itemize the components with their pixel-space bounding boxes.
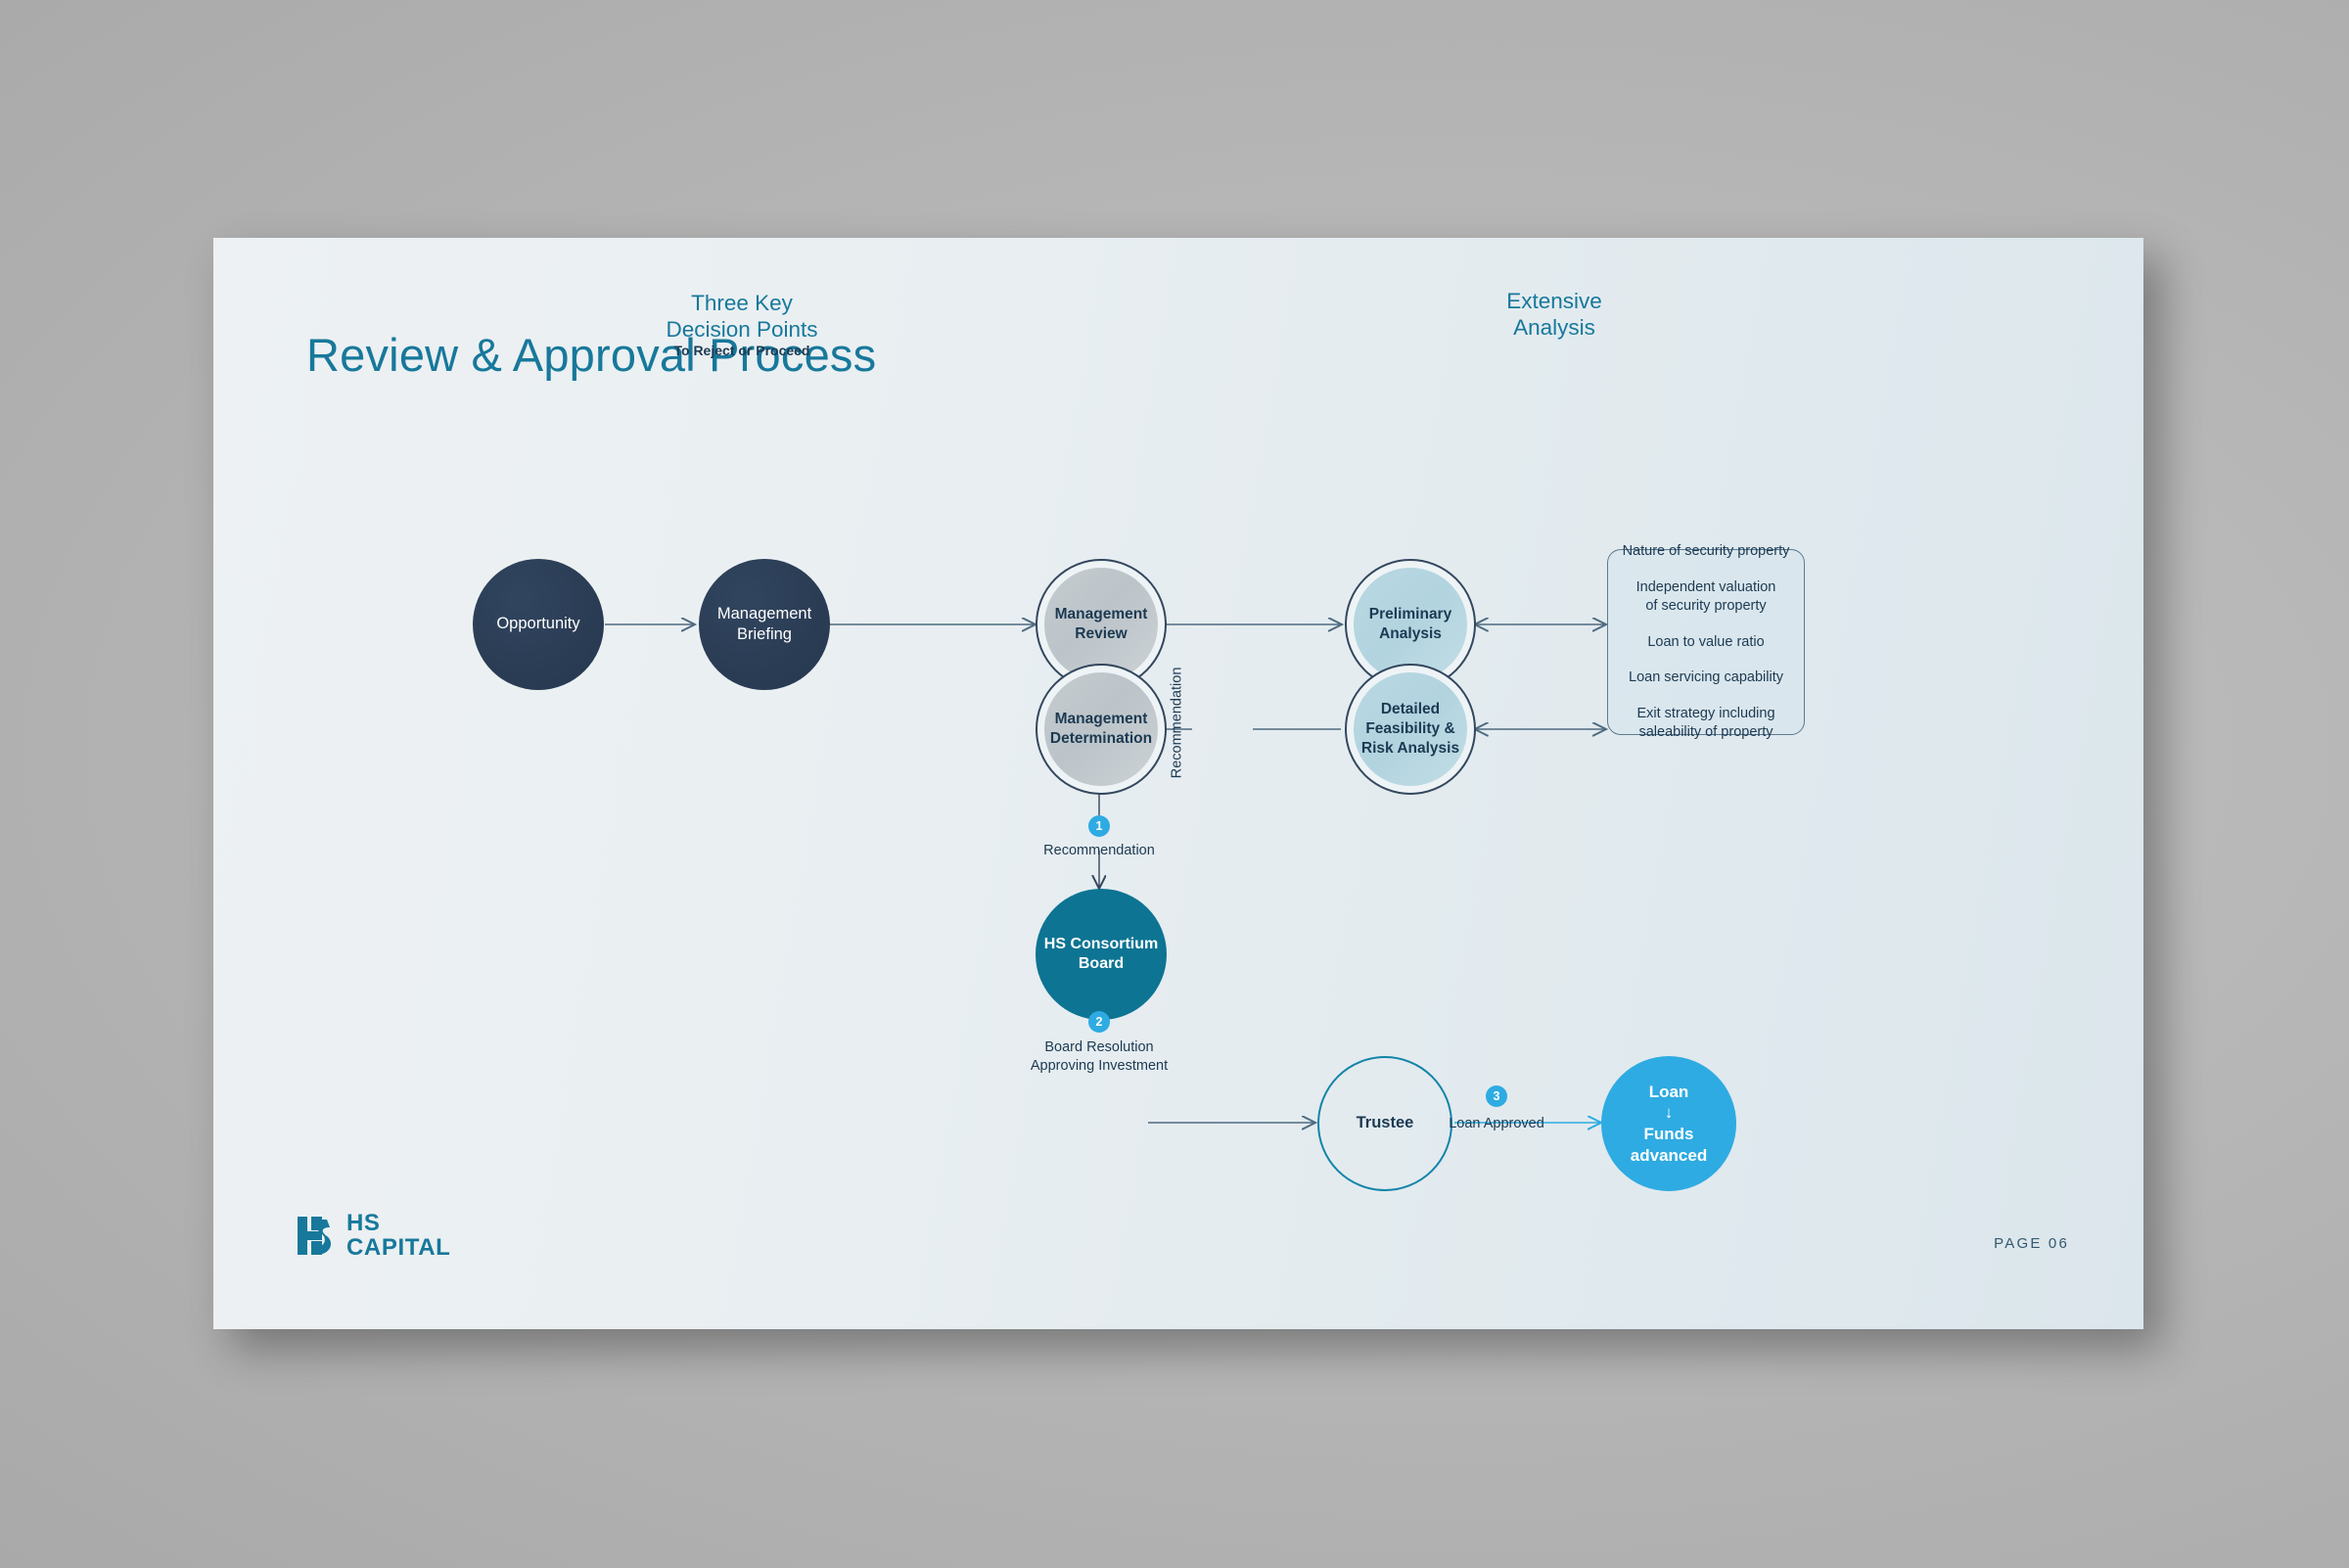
criteria-item: Loan to value ratio <box>1647 633 1764 652</box>
node-label: Loan ↓ Funds advanced <box>1631 1082 1707 1167</box>
node-label: HS Consortium Board <box>1044 935 1158 975</box>
section-heading-decision-points: Three Key Decision Points <box>634 290 850 343</box>
section-sub-decision-points: To Reject or Proceed <box>634 343 850 358</box>
node-hs-consortium-board[interactable]: HS Consortium Board <box>1036 889 1167 1020</box>
node-opportunity[interactable]: Opportunity <box>473 559 604 690</box>
edge-label-board-resolution: Board Resolution Approving Investment <box>982 1038 1217 1076</box>
criteria-item: Exit strategy including saleability of p… <box>1636 705 1774 742</box>
edge-label-loan-approved: Loan Approved <box>1418 1115 1575 1133</box>
node-management-briefing[interactable]: Management Briefing <box>699 559 830 690</box>
edge-label-recommendation-step: Recommendation <box>1001 842 1197 860</box>
node-label: Management Determination <box>1044 672 1158 786</box>
node-label: Management Briefing <box>717 604 811 645</box>
node-label: Detailed Feasibility & Risk Analysis <box>1354 672 1467 786</box>
badge-number: 3 <box>1494 1089 1500 1103</box>
criteria-item: Independent valuation of security proper… <box>1636 578 1776 616</box>
node-detailed-feasibility-risk-analysis[interactable]: Detailed Feasibility & Risk Analysis <box>1345 664 1476 795</box>
badge-number: 1 <box>1096 819 1103 833</box>
badge-step-1: 1 <box>1088 815 1110 837</box>
brand-logo-text: HS CAPITAL <box>346 1212 450 1261</box>
section-heading-extensive-analysis: Extensive Analysis <box>1456 288 1652 341</box>
hs-monogram-icon <box>298 1215 336 1257</box>
brand-logo: HS CAPITAL <box>298 1212 450 1261</box>
slide-canvas: Review & Approval Process Three Key Deci… <box>213 238 2143 1329</box>
criteria-item: Loan servicing capability <box>1629 669 1783 687</box>
node-label: Opportunity <box>496 614 579 634</box>
node-label: Trustee <box>1357 1113 1414 1133</box>
page-number: PAGE 06 <box>1994 1235 2069 1252</box>
edge-label-recommendation-vertical: Recommendation <box>1169 654 1187 791</box>
badge-number: 2 <box>1096 1015 1103 1029</box>
badge-step-3: 3 <box>1486 1085 1507 1107</box>
criteria-box: Nature of security property Independent … <box>1607 549 1805 735</box>
node-loan-funds-advanced[interactable]: Loan ↓ Funds advanced <box>1601 1056 1736 1191</box>
criteria-item: Nature of security property <box>1623 542 1790 561</box>
node-management-determination[interactable]: Management Determination <box>1036 664 1167 795</box>
badge-step-2: 2 <box>1088 1011 1110 1033</box>
